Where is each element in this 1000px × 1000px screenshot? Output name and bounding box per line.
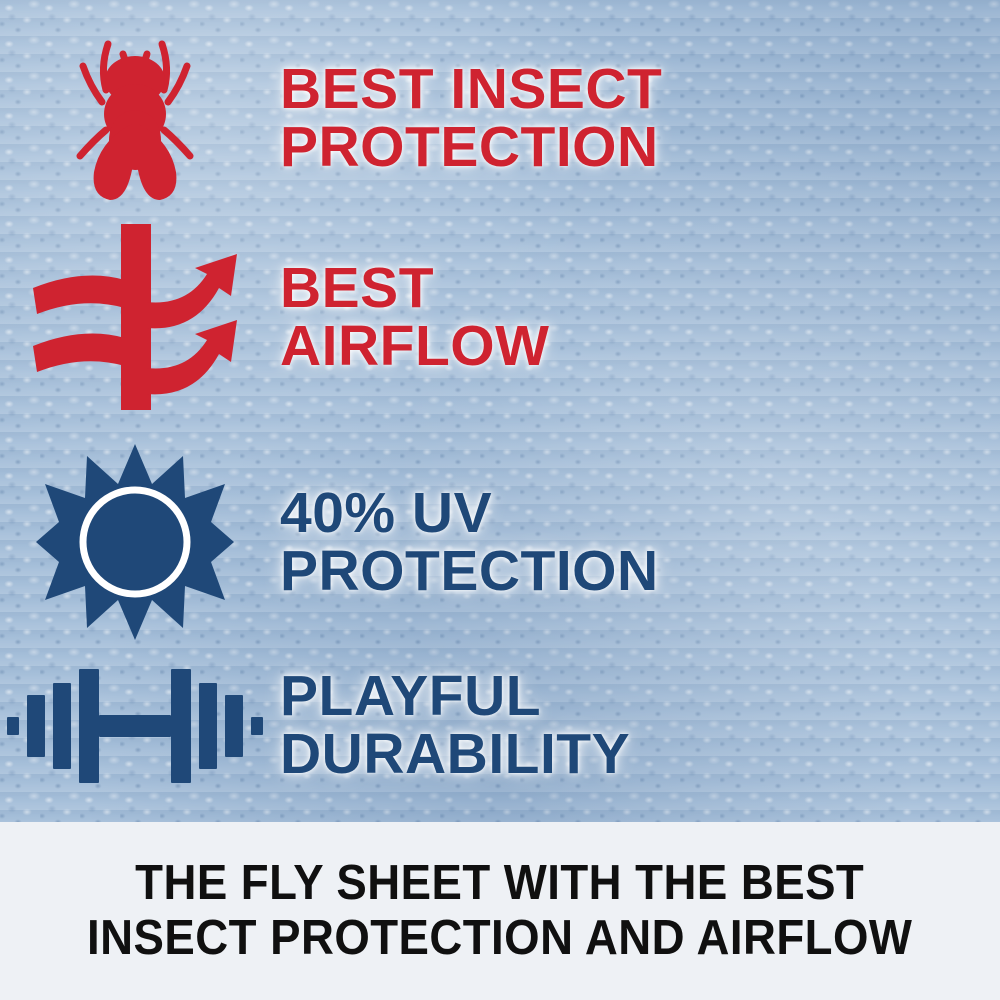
feature-row-durability: PLAYFUL DURABILITY (0, 650, 1000, 800)
infographic-poster: BEST INSECT PROTECTION (0, 0, 1000, 1000)
feature-icon-cell (0, 655, 270, 795)
feature-row-airflow: BEST AIRFLOW (0, 222, 1000, 412)
feature-label-airflow: BEST AIRFLOW (280, 259, 1000, 375)
airflow-arrows-icon (25, 222, 245, 412)
feature-row-uv-protection: 40% UV PROTECTION (0, 442, 1000, 642)
feature-text-cell: BEST AIRFLOW (270, 259, 1000, 375)
feature-text-cell: 40% UV PROTECTION (270, 484, 1000, 600)
feature-label-insect-protection: BEST INSECT PROTECTION (280, 60, 1000, 176)
feature-list: BEST INSECT PROTECTION (0, 0, 1000, 822)
sun-uv-icon (35, 442, 235, 642)
feature-label-durability: PLAYFUL DURABILITY (280, 667, 1000, 783)
feature-icon-cell (0, 442, 270, 642)
feature-text-cell: BEST INSECT PROTECTION (270, 60, 1000, 176)
feature-text-cell: PLAYFUL DURABILITY (270, 667, 1000, 783)
feature-icon-cell (0, 222, 270, 412)
caption-band: THE FLY SHEET WITH THE BEST INSECT PROTE… (0, 822, 1000, 1000)
feature-icon-cell (0, 28, 270, 208)
feature-row-insect-protection: BEST INSECT PROTECTION (0, 28, 1000, 208)
caption-headline: THE FLY SHEET WITH THE BEST INSECT PROTE… (87, 856, 912, 966)
fly-icon (50, 28, 220, 208)
dumbbell-icon (5, 655, 265, 795)
feature-label-uv-protection: 40% UV PROTECTION (280, 484, 1000, 600)
